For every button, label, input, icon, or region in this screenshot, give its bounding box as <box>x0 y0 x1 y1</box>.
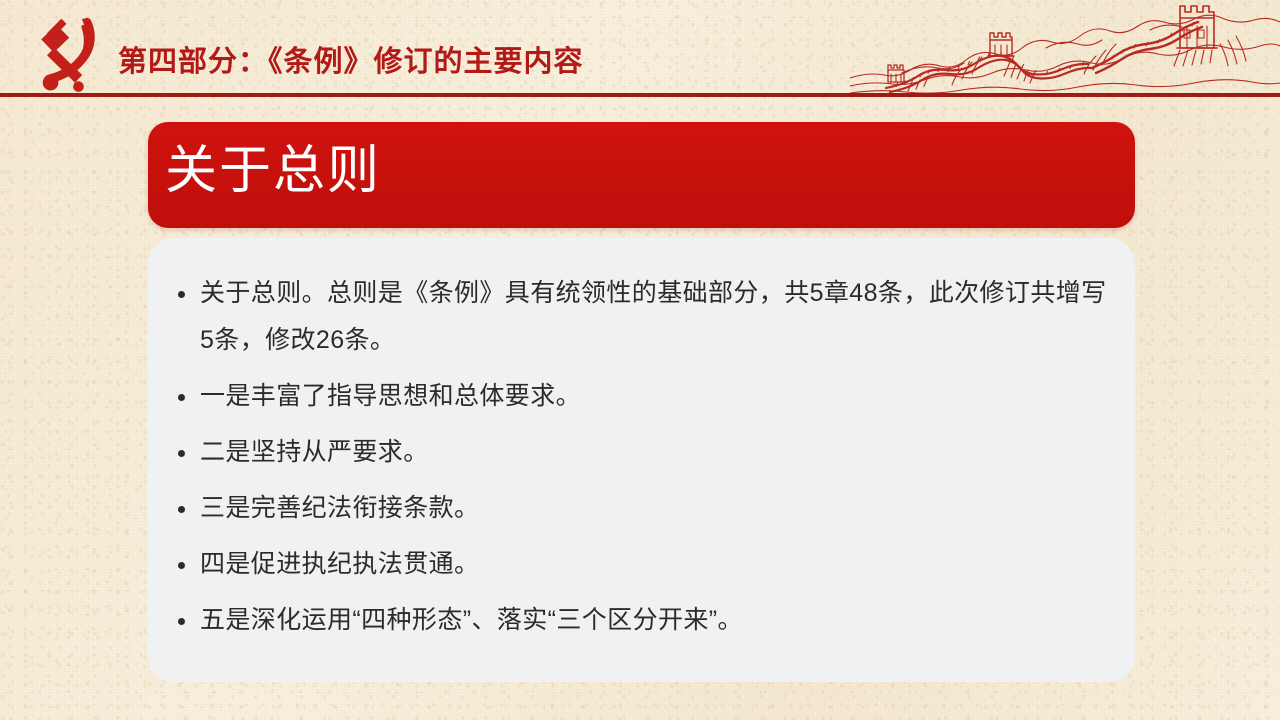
header-divider-rule <box>0 93 1280 97</box>
slide-canvas: 第四部分：《条例》修订的主要内容 <box>0 0 1280 720</box>
list-item: 四是促进执纪执法贯通。 <box>178 541 1109 588</box>
list-item: 三是完善纪法衔接条款。 <box>178 485 1109 532</box>
list-item: 一是丰富了指导思想和总体要求。 <box>178 373 1109 420</box>
list-item: 五是深化运用“四种形态”、落实“三个区分开来”。 <box>178 597 1109 644</box>
list-item-text: 三是完善纪法衔接条款。 <box>200 494 479 522</box>
party-emblem-hammer-sickle-icon <box>16 16 108 92</box>
list-item-text: 关于总则。总则是《条例》具有统领性的基础部分，共5章48条，此次修订共增写5条，… <box>200 279 1107 354</box>
list-item-text: 四是促进执纪执法贯通。 <box>200 550 479 578</box>
list-item-text: 二是坚持从严要求。 <box>200 438 429 466</box>
section-title: 关于总则 <box>165 140 381 202</box>
list-item: 关于总则。总则是《条例》具有统领性的基础部分，共5章48条，此次修订共增写5条，… <box>178 270 1109 364</box>
content-card: 关于总则。总则是《条例》具有统领性的基础部分，共5章48条，此次修订共增写5条，… <box>148 238 1135 682</box>
list-item-text: 一是丰富了指导思想和总体要求。 <box>200 382 581 410</box>
list-item-text: 五是深化运用“四种形态”、落实“三个区分开来”。 <box>200 606 743 634</box>
great-wall-illustration-icon <box>850 0 1280 96</box>
bullet-list: 关于总则。总则是《条例》具有统领性的基础部分，共5章48条，此次修订共增写5条，… <box>178 270 1109 644</box>
slide-header: 第四部分：《条例》修订的主要内容 <box>0 0 1280 98</box>
section-title-banner: 关于总则 <box>148 122 1135 228</box>
list-item: 二是坚持从严要求。 <box>178 429 1109 476</box>
page-title: 第四部分：《条例》修订的主要内容 <box>118 38 584 80</box>
